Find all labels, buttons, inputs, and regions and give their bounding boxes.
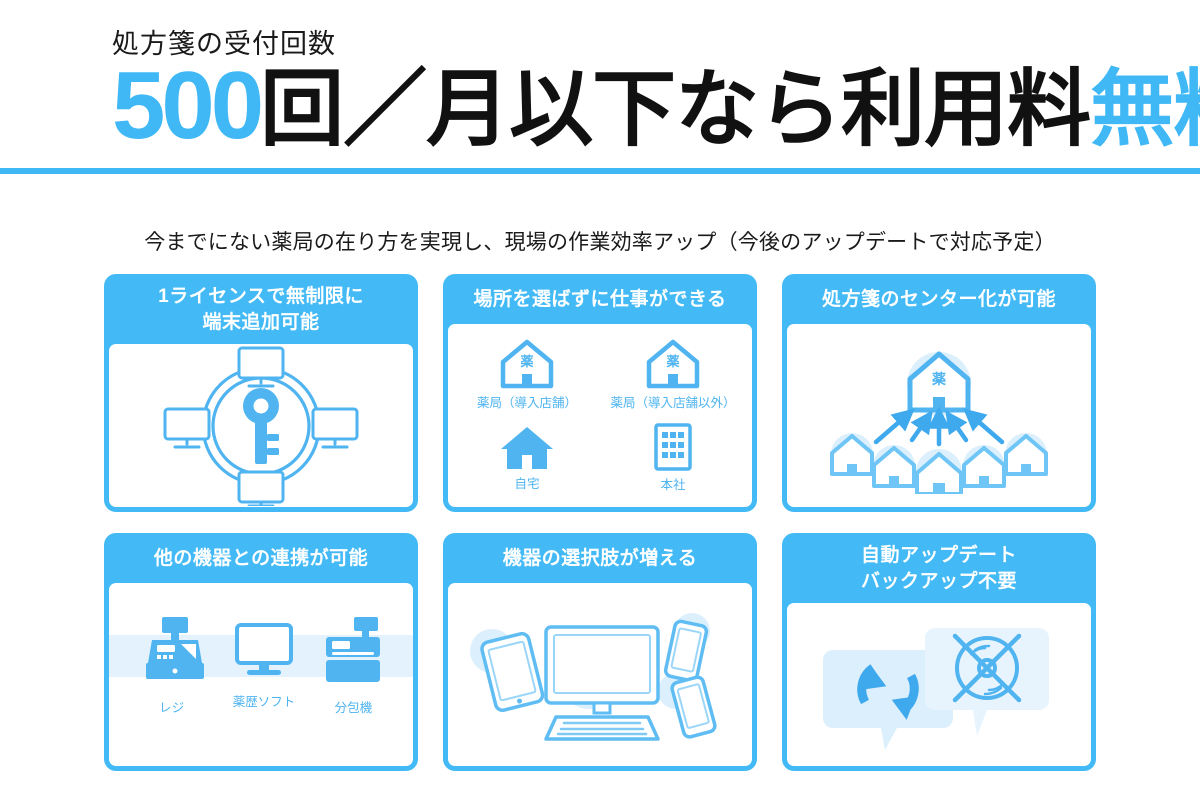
- feature-card-prescription-centralization: 処方箋のセンター化が可能 薬: [782, 274, 1096, 512]
- device-label: レジ: [159, 697, 184, 716]
- pharmacy-house-icon: 薬: [645, 338, 701, 390]
- header: 処方箋の受付回数 500回／月以下なら利用料無料: [0, 0, 1200, 172]
- headline: 500回／月以下なら利用料無料: [112, 58, 1200, 154]
- card-title: 処方箋のセンター化が可能: [782, 274, 1096, 324]
- hub-arrows-icon: 薬: [814, 344, 1064, 494]
- card-title-line2: バックアップ不要: [788, 569, 1090, 595]
- device-item-register: レジ: [136, 615, 208, 716]
- feature-card-auto-update-no-backup: 自動アップデート バックアップ不要: [782, 533, 1096, 771]
- peripheral-device-row: レジ 薬歴ソフト: [109, 583, 413, 766]
- location-item-headquarters: 本社: [600, 416, 746, 499]
- card-title-line1: 自動アップデート: [788, 543, 1090, 569]
- feature-card-grid: 1ライセンスで無制限に 端末追加可能: [104, 274, 1096, 771]
- feature-card-more-device-choices: 機器の選択肢が増える: [443, 533, 757, 771]
- device-item-packaging-machine: 分包機: [320, 615, 386, 716]
- svg-text:薬: 薬: [932, 371, 946, 388]
- device-label: 薬歴ソフト: [233, 691, 296, 710]
- card-body: [109, 344, 413, 507]
- headline-middle: 回／月以下なら利用料: [260, 65, 1090, 153]
- card-title: 場所を選ばずに仕事ができる: [443, 274, 757, 324]
- packaging-machine-icon: [320, 615, 386, 685]
- card-title: 機器の選択肢が増える: [443, 533, 757, 583]
- card-title: 他の機器との連携が可能: [104, 533, 418, 583]
- key-ring-monitors-icon: [161, 346, 361, 506]
- location-label: 薬局（導入店舗）: [477, 392, 577, 411]
- card-body: 薬 薬局（導入店舗） 薬 薬局（導入店舗以外）: [448, 324, 752, 507]
- location-icon-grid: 薬 薬局（導入店舗） 薬 薬局（導入店舗以外）: [448, 324, 752, 507]
- location-item-home: 自宅: [454, 416, 600, 499]
- office-building-icon: [651, 422, 695, 472]
- subtitle: 今までにない薬局の在り方を実現し、現場の作業効率アップ（今後のアップデートで対応…: [0, 226, 1200, 256]
- device-label: 分包機: [335, 697, 373, 716]
- pharmacy-house-icon: 薬: [499, 338, 555, 390]
- infographic-page: 処方箋の受付回数 500回／月以下なら利用料無料 今までにない薬局の在り方を実現…: [0, 0, 1200, 800]
- feature-card-unlimited-terminals: 1ライセンスで無制限に 端末追加可能: [104, 274, 418, 512]
- location-item-pharmacy-other: 薬 薬局（導入店舗以外）: [600, 334, 746, 417]
- cash-register-icon: [136, 615, 208, 685]
- sync-and-no-disc-icon: [819, 610, 1059, 760]
- headline-number: 500: [112, 58, 260, 154]
- location-item-pharmacy-host: 薬 薬局（導入店舗）: [454, 334, 600, 417]
- device-item-pharmacy-software: 薬歴ソフト: [233, 621, 296, 710]
- desktop-tablet-phones-icon: [460, 599, 740, 749]
- header-divider: [0, 168, 1200, 174]
- svg-text:薬: 薬: [665, 354, 680, 370]
- card-title: 1ライセンスで無制限に 端末追加可能: [104, 274, 418, 344]
- card-body: [787, 603, 1091, 766]
- location-label: 自宅: [514, 473, 539, 492]
- headline-free: 無料: [1090, 65, 1200, 153]
- card-body: 薬: [787, 324, 1091, 507]
- card-title: 自動アップデート バックアップ不要: [782, 533, 1096, 603]
- feature-card-work-anywhere: 場所を選ばずに仕事ができる 薬 薬局（導入店舗）: [443, 274, 757, 512]
- card-title-line2: 端末追加可能: [110, 310, 412, 336]
- home-icon: [499, 423, 555, 471]
- location-label: 本社: [660, 474, 685, 493]
- card-body: [448, 583, 752, 766]
- card-body: レジ 薬歴ソフト: [109, 583, 413, 766]
- location-label: 薬局（導入店舗以外）: [610, 392, 735, 411]
- feature-card-device-integration: 他の機器との連携が可能: [104, 533, 418, 771]
- card-title-line1: 1ライセンスで無制限に: [110, 284, 412, 310]
- monitor-icon: [233, 621, 295, 679]
- svg-text:薬: 薬: [519, 354, 534, 370]
